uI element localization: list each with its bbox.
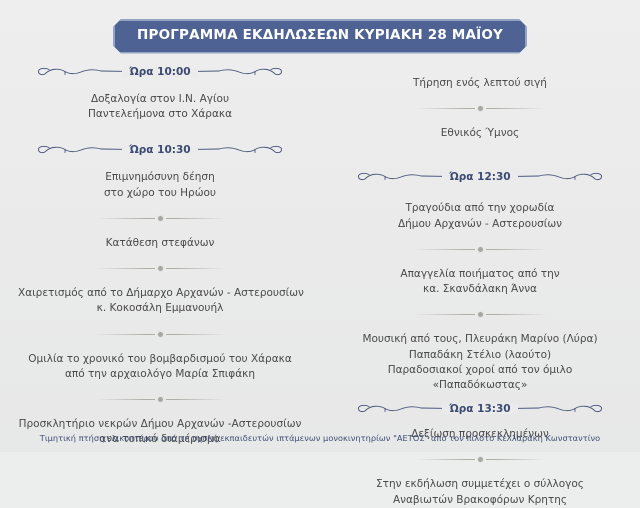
divider-line-left (95, 268, 155, 269)
divider-line-right (486, 108, 546, 109)
entry-line: Παραδοσιακοί χοροί από τον όμιλο (338, 363, 622, 378)
divider-dot (158, 216, 163, 221)
divider-line-left (415, 249, 475, 250)
divider-dot (158, 266, 163, 271)
poster-title-banner: ΠΡΟΓΡΑΜΜΑ ΕΚΔΗΛΩΣΕΩΝ ΚΥΡΙΑΚΗ 28 ΜΑΪΟΥ (113, 19, 527, 54)
entry-line: Εθνικός Ύμνος (338, 126, 622, 141)
time-label: Ώρα 12:30 (442, 172, 517, 183)
entry-line: Μουσική από τους, Πλευράκη Μαρίνο (Λύρα) (338, 332, 622, 347)
entry-line: Κατάθεση στεφάνων (18, 236, 302, 251)
entry-line: Στην εκδήλωση συμμετέχει ο σύλλογος (338, 477, 622, 492)
time-label: Ώρα 10:30 (122, 145, 197, 156)
program-entry: Τήρηση ενός λεπτού σιγή (334, 76, 626, 91)
entry-divider (334, 103, 626, 114)
program-entry: Κατάθεση στεφάνων (14, 236, 306, 251)
banner-container: ΠΡΟΓΡΑΜΜΑ ΕΚΔΗΛΩΣΕΩΝ ΚΥΡΙΑΚΗ 28 ΜΑΪΟΥ (0, 19, 640, 54)
program-entry: Εθνικός Ύμνος (334, 126, 626, 141)
divider-line-left (95, 334, 155, 335)
entry-line: Τήρηση ενός λεπτού σιγή (338, 76, 622, 91)
entry-line: Παντελεήμονα στο Χάρακα (18, 107, 302, 122)
divider-dot (158, 397, 163, 402)
entry-line: κ. Κοκοσάλη Εμμανουήλ (18, 301, 302, 316)
time-label: Ώρα 13:30 (442, 404, 517, 415)
divider-line-left (95, 399, 155, 400)
divider-dot (478, 457, 483, 462)
program-entry: Μουσική από τους, Πλευράκη Μαρίνο (Λύρα)… (334, 332, 626, 393)
entry-line: Χαιρετισμός από το Δήμαρχο Αρχανών - Αστ… (18, 286, 302, 301)
divider-dot (478, 312, 483, 317)
program-entry: Δοξαλογία στον Ι.Ν. Αγίου Παντελεήμονα σ… (14, 92, 306, 122)
left-column: Ώρα 10:00 Δοξαλογία στον Ι.Ν. Αγίου Παντ… (0, 62, 320, 422)
footer-note: Τιμητική πτήση ελικοπτέρου από τη σχολή … (0, 433, 640, 443)
divider-line-left (95, 218, 155, 219)
program-entry: Επιμνημόσυνη δέηση στο χώρο του Ηρώου (14, 170, 306, 200)
entry-line: Ομιλία το χρονικό του βομβαρδισμού του Χ… (18, 352, 302, 367)
program-entry: Τραγούδια από την χορωδία Δήμου Αρχανών … (334, 201, 626, 231)
divider-line-left (415, 314, 475, 315)
divider-line-right (166, 268, 226, 269)
entry-line: «Παπαδόκωστας» (338, 378, 622, 393)
entry-divider (14, 213, 306, 224)
divider-line-right (486, 459, 546, 460)
time-heading-10-00: Ώρα 10:00 (14, 62, 306, 82)
divider-line-left (415, 108, 475, 109)
entry-divider (334, 244, 626, 255)
entry-line: Επιμνημόσυνη δέηση (18, 170, 302, 185)
event-program-poster: ΠΡΟΓΡΑΜΜΑ ΕΚΔΗΛΩΣΕΩΝ ΚΥΡΙΑΚΗ 28 ΜΑΪΟΥ (0, 0, 640, 452)
entry-divider (14, 329, 306, 340)
entry-divider (14, 263, 306, 274)
program-entry: Ομιλία το χρονικό του βομβαρδισμού του Χ… (14, 352, 306, 382)
divider-dot (478, 247, 483, 252)
entry-divider (14, 394, 306, 405)
divider-line-right (486, 314, 546, 315)
entry-line: Δοξαλογία στον Ι.Ν. Αγίου (18, 92, 302, 107)
entry-line: Δήμου Αρχανών - Αστερουσίων (338, 217, 622, 232)
entry-line: Αναβιωτών Βρακοφόρων Κρητης (338, 493, 622, 508)
program-entry: Στην εκδήλωση συμμετέχει ο σύλλογος Αναβ… (334, 477, 626, 507)
entry-divider (334, 309, 626, 320)
program-columns: Ώρα 10:00 Δοξαλογία στον Ι.Ν. Αγίου Παντ… (0, 62, 640, 422)
time-heading-10-30: Ώρα 10:30 (14, 140, 306, 160)
entry-line: Τραγούδια από την χορωδία (338, 201, 622, 216)
time-heading-13-30: Ώρα 13:30 (334, 399, 626, 419)
entry-line: Προσκλητήριο νεκρών Δήμου Αρχανών -Αστερ… (18, 417, 302, 432)
right-column: Τήρηση ενός λεπτού σιγή Εθνικός Ύμνος (320, 62, 640, 422)
program-entry: Απαγγελία ποιήματος από την κα. Σκανδάλα… (334, 267, 626, 297)
time-label: Ώρα 10:00 (122, 67, 197, 78)
entry-line: Παπαδάκη Στέλιο (λαούτο) (338, 348, 622, 363)
entry-line: από την αρχαιολόγο Μαρία Σπιφάκη (18, 367, 302, 382)
divider-dot (158, 332, 163, 337)
time-heading-12-30: Ώρα 12:30 (334, 167, 626, 187)
divider-line-right (166, 399, 226, 400)
divider-line-right (166, 218, 226, 219)
divider-line-right (486, 249, 546, 250)
divider-line-left (415, 459, 475, 460)
entry-line: κα. Σκανδάλακη Άννα (338, 282, 622, 297)
entry-line: Απαγγελία ποιήματος από την (338, 267, 622, 282)
divider-line-right (166, 334, 226, 335)
entry-line: στο χώρο του Ηρώου (18, 186, 302, 201)
program-entry: Χαιρετισμός από το Δήμαρχο Αρχανών - Αστ… (14, 286, 306, 316)
divider-dot (478, 106, 483, 111)
entry-divider (334, 454, 626, 465)
